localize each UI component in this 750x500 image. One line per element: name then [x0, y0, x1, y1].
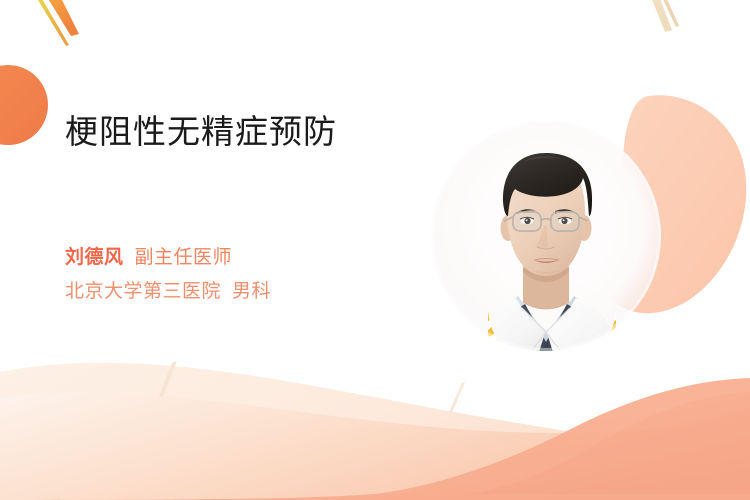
doctor-affiliation: 北京大学第三医院 [65, 280, 221, 302]
credential-line-affiliation: 北京大学第三医院男科 [65, 282, 271, 301]
doctor-name: 刘德风 [65, 246, 124, 268]
slide-canvas: 梗阻性无精症预防 刘德风副主任医师 北京大学第三医院男科 [0, 0, 750, 500]
doctor-rank: 副主任医师 [135, 246, 233, 268]
page-title: 梗阻性无精症预防 [65, 112, 445, 152]
credentials-block: 刘德风副主任医师 北京大学第三医院男科 [65, 248, 271, 301]
doctor-department: 男科 [232, 280, 271, 302]
title-block: 梗阻性无精症预防 [65, 112, 445, 152]
credential-line-name: 刘德风副主任医师 [65, 248, 271, 267]
doctor-portrait-icon [430, 120, 662, 352]
